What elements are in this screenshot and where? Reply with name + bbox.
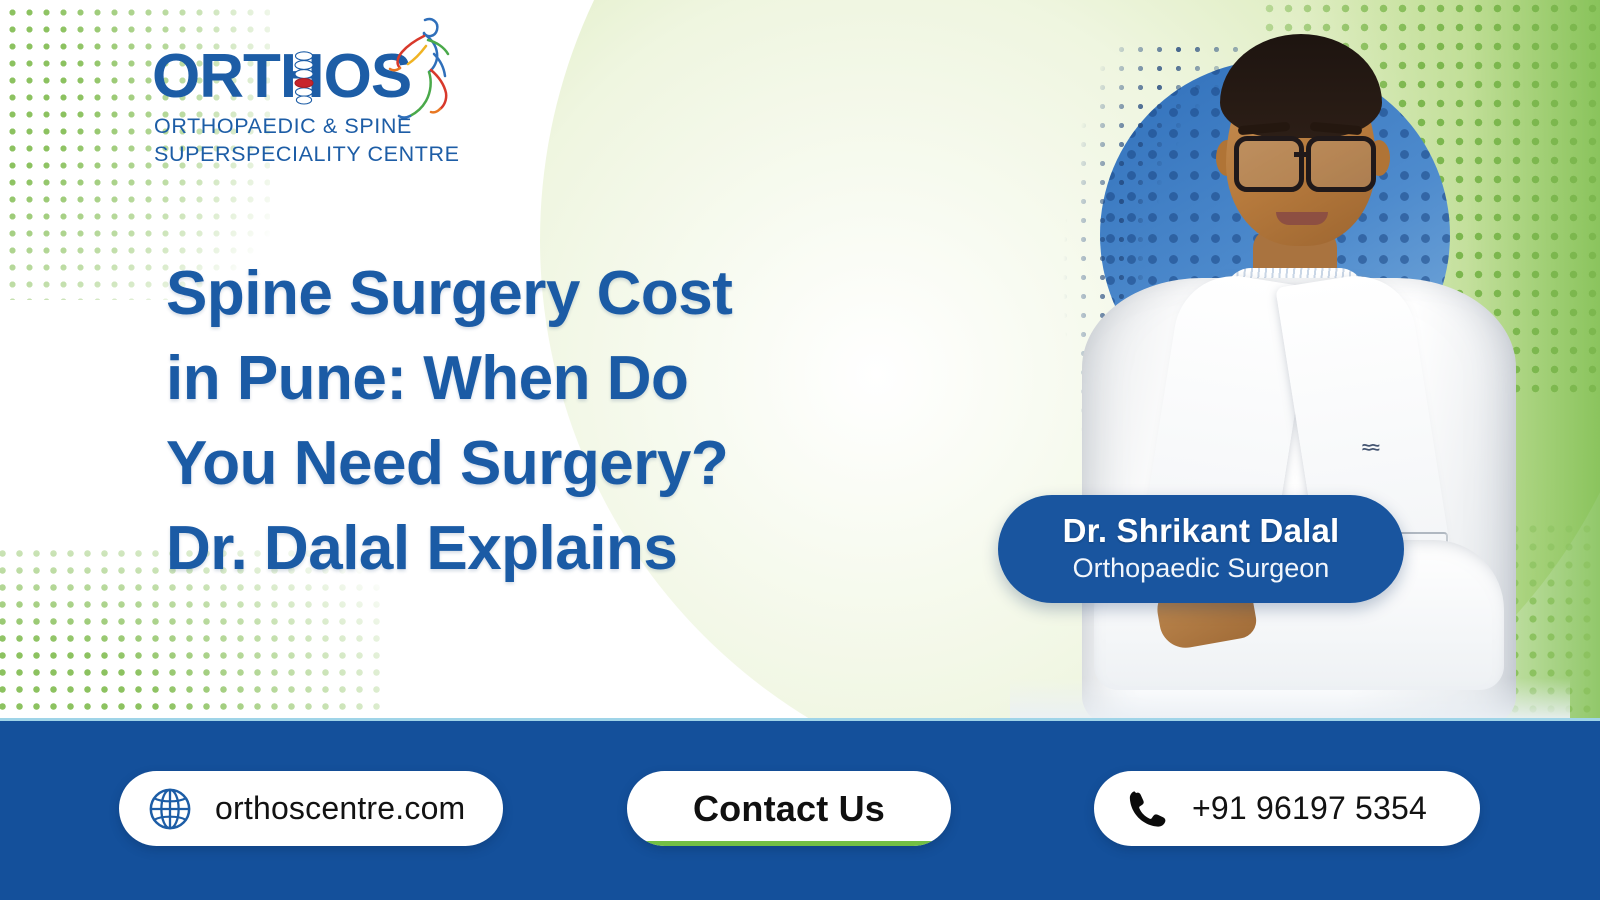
- spine-icon: [289, 49, 319, 107]
- phone-pill[interactable]: +91 96197 5354: [1094, 771, 1480, 846]
- headline: Spine Surgery Cost in Pune: When Do You …: [166, 252, 866, 592]
- headline-line-1: Spine Surgery Cost: [166, 252, 866, 337]
- phone-icon: [1124, 787, 1168, 831]
- promo-banner: ORTHOS: [0, 0, 1600, 900]
- doctor-role: Orthopaedic Surgeon: [1073, 552, 1330, 584]
- blue-halftone-scatter: [1055, 40, 1255, 520]
- green-right-gradient: [1300, 0, 1600, 720]
- contact-us-button[interactable]: Contact Us: [627, 771, 951, 846]
- logo-tagline-line1: ORTHOPAEDIC & SPINE: [154, 114, 412, 139]
- headline-line-3: You Need Surgery?: [166, 422, 866, 507]
- doctor-portrait: ≈≈: [1010, 0, 1570, 718]
- globe-icon: [147, 786, 193, 832]
- brand-logo[interactable]: ORTHOS: [152, 18, 452, 168]
- contact-accent-underline: [641, 841, 937, 846]
- footer-bar: orthoscentre.com Contact Us +91 96197 53…: [0, 718, 1600, 900]
- website-pill[interactable]: orthoscentre.com: [119, 771, 503, 846]
- website-label: orthoscentre.com: [215, 790, 465, 827]
- contact-us-label: Contact Us: [693, 788, 885, 830]
- running-figure-icon: [384, 14, 454, 126]
- halftone-dots-top-right: [1260, 0, 1600, 400]
- phone-label: +91 96197 5354: [1192, 790, 1427, 827]
- logo-wordmark: ORTHOS: [152, 46, 411, 108]
- headline-line-4: Dr. Dalal Explains: [166, 507, 866, 592]
- headline-line-2: in Pune: When Do: [166, 337, 866, 422]
- blue-circle-backdrop: [1100, 60, 1450, 410]
- doctor-name-badge: Dr. Shrikant Dalal Orthopaedic Surgeon: [998, 495, 1404, 603]
- logo-tagline-line2: SUPERSPECIALITY CENTRE: [154, 142, 460, 167]
- doctor-name: Dr. Shrikant Dalal: [1063, 513, 1340, 550]
